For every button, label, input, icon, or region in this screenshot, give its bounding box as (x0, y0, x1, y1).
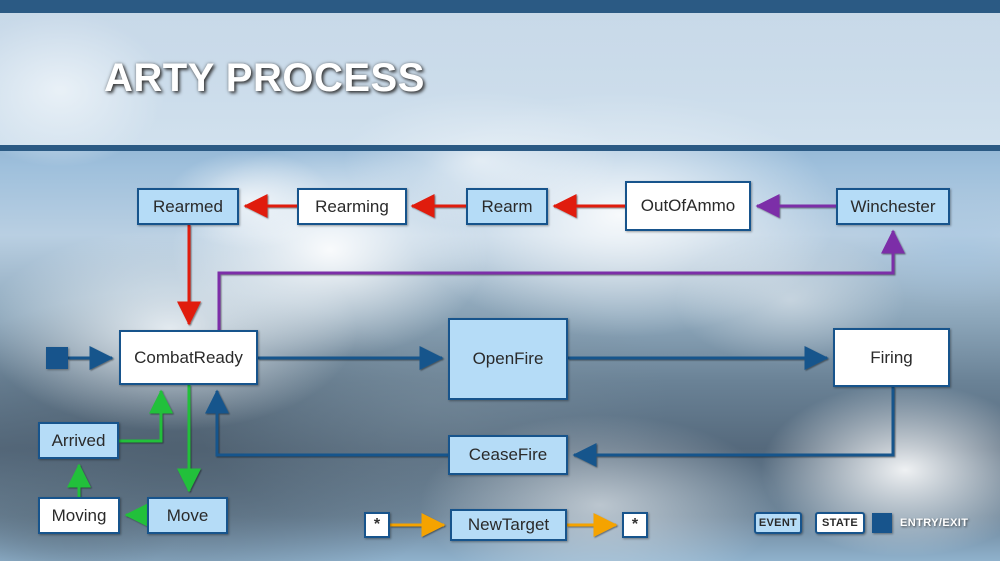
node-arrived[interactable]: Arrived (38, 422, 119, 459)
node-label: OpenFire (473, 349, 544, 369)
node-rearm[interactable]: Rearm (466, 188, 548, 225)
node-label: NewTarget (468, 515, 549, 535)
node-label: Move (167, 506, 209, 526)
node-label: Arrived (52, 431, 106, 451)
node-label: Moving (52, 506, 107, 526)
node-label: * (632, 516, 638, 534)
edge-ceasefire-combatready (217, 391, 448, 455)
node-rearmed[interactable]: Rearmed (137, 188, 239, 225)
node-newtarget[interactable]: NewTarget (450, 509, 567, 541)
legend-event-swatch: EVENT (754, 512, 802, 534)
entry-point-marker[interactable] (46, 347, 68, 369)
node-label: Firing (870, 348, 913, 368)
node-combatready[interactable]: CombatReady (119, 330, 258, 385)
node-label: OutOfAmmo (641, 196, 735, 216)
node-label: Rearm (481, 197, 532, 217)
node-rearming[interactable]: Rearming (297, 188, 407, 225)
edge-combatready-winchester (219, 231, 893, 330)
node-label: Rearming (315, 197, 389, 217)
node-wildcard-source[interactable]: * (364, 512, 390, 538)
node-winchester[interactable]: Winchester (836, 188, 950, 225)
legend-entry-exit-swatch (872, 513, 892, 533)
edge-arrived-combatready (119, 391, 161, 441)
node-firing[interactable]: Firing (833, 328, 950, 387)
node-moving[interactable]: Moving (38, 497, 120, 534)
node-label: Winchester (850, 197, 935, 217)
legend-state-swatch: STATE (815, 512, 865, 534)
edge-firing-ceasefire (574, 387, 893, 455)
legend-entry-exit-label: ENTRY/EXIT (900, 517, 968, 529)
node-move[interactable]: Move (147, 497, 228, 534)
legend-event-label: EVENT (759, 517, 797, 529)
node-wildcard-target[interactable]: * (622, 512, 648, 538)
node-label: CombatReady (134, 348, 243, 368)
node-ceasefire[interactable]: CeaseFire (448, 435, 568, 475)
node-label: CeaseFire (469, 445, 547, 465)
node-label: Rearmed (153, 197, 223, 217)
node-outofammo[interactable]: OutOfAmmo (625, 181, 751, 231)
node-label: * (374, 516, 380, 534)
diagram-edges (0, 0, 1000, 561)
legend-state-label: STATE (822, 517, 858, 529)
slide-canvas: ARTY PROCESS (0, 0, 1000, 561)
node-openfire[interactable]: OpenFire (448, 318, 568, 400)
